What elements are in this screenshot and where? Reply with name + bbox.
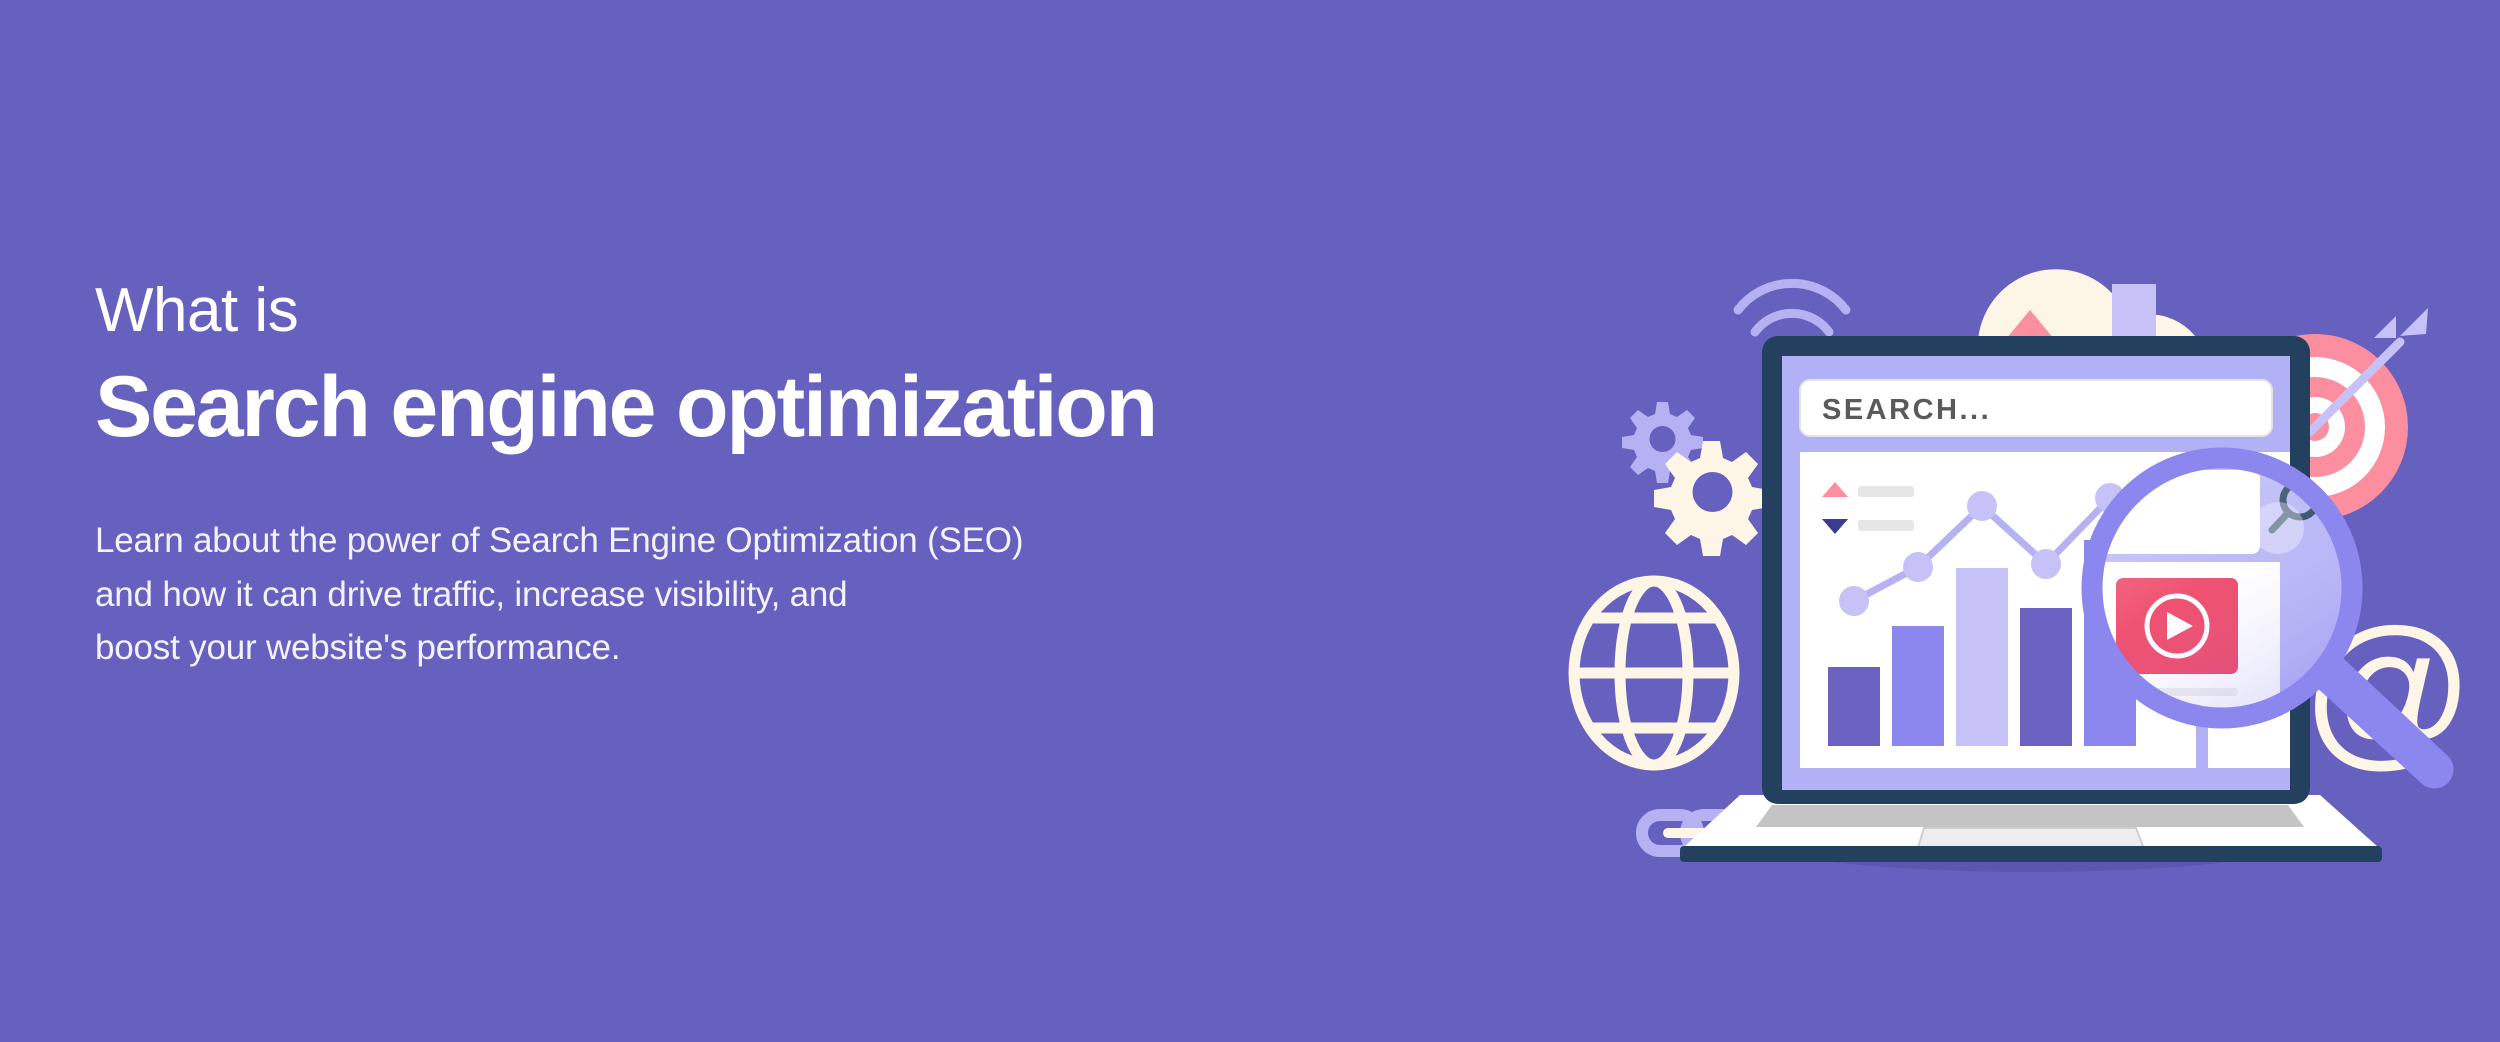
chart-bar [1828,667,1880,746]
gear-large-icon [1654,441,1769,556]
seo-illustration: @ SEARCH... [1560,140,2500,880]
legend-label-1 [1858,486,1914,497]
hero-copy-block: What is Search engine optimization Learn… [95,280,1345,675]
laptop-base [1680,795,2382,862]
hero-subcopy-line-1: Learn about the power of Search Engine O… [95,514,1235,568]
browser-search-bar[interactable]: SEARCH... [1800,380,2272,436]
chart-bar [2020,608,2072,746]
seo-hero-banner: What is Search engine optimization Learn… [0,0,2500,1042]
chart-point [2031,549,2061,579]
hero-subcopy-line-3: boost your website's performance. [95,621,1235,675]
chart-bar [1892,626,1944,746]
search-input-placeholder: SEARCH... [1822,394,1991,426]
lens-highlight [2252,502,2304,554]
chart-point [1903,552,1933,582]
page-title: Search engine optimization [95,364,1345,450]
legend-label-2 [1858,520,1914,531]
hero-subcopy-line-2: and how it can drive traffic, increase v… [95,568,1235,622]
hero-eyebrow: What is [95,280,1345,342]
hero-subcopy: Learn about the power of Search Engine O… [95,514,1235,675]
chart-point [1967,491,1997,521]
chart-point [1839,586,1869,616]
chart-bar [1956,568,2008,746]
globe-icon [1574,581,1734,765]
